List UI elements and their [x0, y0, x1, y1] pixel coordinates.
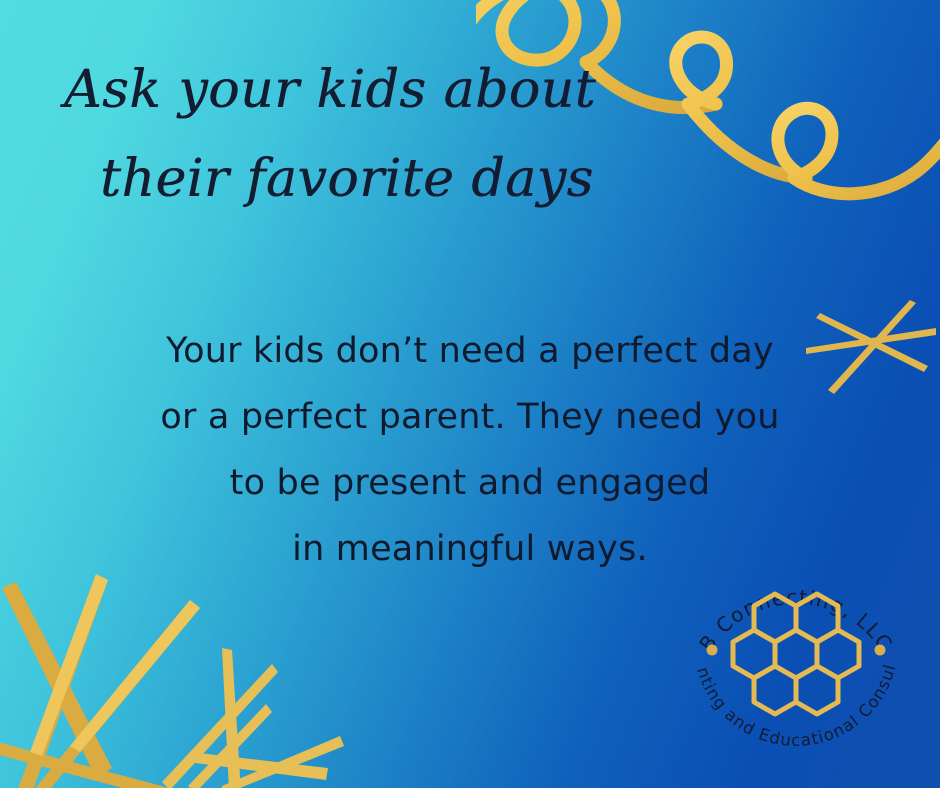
- body-copy: Your kids don’t need a perfect day or a …: [0, 318, 940, 582]
- logo-dot-left: [707, 645, 718, 656]
- body-line-1: Your kids don’t need a perfect day: [0, 318, 940, 384]
- gold-sparkle-bottom-left-large: [0, 556, 304, 788]
- headline-line-2: their favorite days: [58, 135, 758, 224]
- logo-dot-right: [875, 645, 886, 656]
- body-line-3: to be present and engaged: [0, 450, 940, 516]
- body-line-2: or a perfect parent. They need you: [0, 384, 940, 450]
- poster-canvas: Ask your kids about their favorite days: [0, 0, 940, 788]
- headline: Ask your kids about their favorite days: [58, 46, 758, 225]
- honeycomb-icon: [733, 594, 859, 714]
- logo: B Connecting, LLC Parenting and Educatio…: [672, 552, 920, 784]
- headline-line-1: Ask your kids about: [58, 46, 758, 135]
- gold-sparkle-bottom-left-small: [160, 640, 420, 788]
